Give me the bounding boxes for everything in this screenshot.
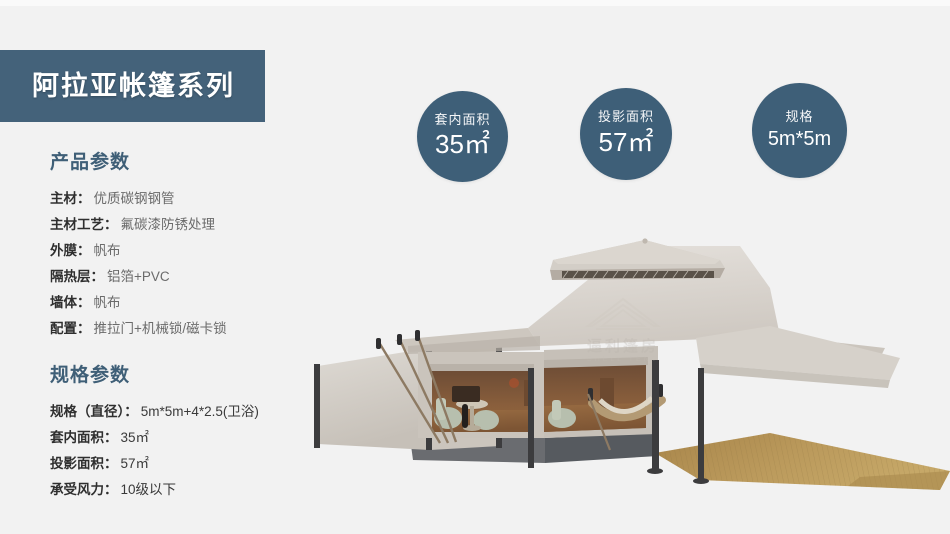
spec-value: 57㎡	[121, 456, 150, 471]
spec-row-material: 主材：优质碳钢钢管	[50, 186, 350, 212]
spec-label: 套内面积：	[50, 430, 118, 445]
badge-label: 规格	[785, 110, 813, 124]
spec-label: 投影面积：	[50, 456, 118, 471]
spec-label: 外膜：	[50, 243, 91, 258]
tent-illustration	[300, 228, 950, 508]
badge-value: 57㎡	[599, 128, 654, 158]
spec-value: 帆布	[94, 295, 121, 310]
spec-value: 优质碳钢钢管	[94, 191, 175, 206]
wing-post-left	[314, 364, 320, 448]
badge-indoor-area: 套内面积 35㎡	[417, 91, 508, 182]
badge-value: 5m*5m	[768, 128, 831, 151]
spec-label: 主材工艺：	[50, 217, 118, 232]
spec-value: 推拉门+机械锁/磁卡锁	[94, 321, 227, 336]
glass-wall-interior	[418, 346, 658, 438]
spec-value: 氟碳漆防锈处理	[121, 217, 216, 232]
badge-label: 套内面积	[434, 113, 490, 127]
badge-projected-area: 投影面积 57㎡	[580, 88, 672, 180]
top-strip	[0, 0, 950, 6]
upper-roof	[550, 238, 725, 280]
section-heading-product: 产品参数	[50, 152, 350, 175]
spec-value: 铝箔+PVC	[107, 269, 170, 284]
spec-label: 承受风力：	[50, 482, 118, 497]
spec-label: 规格（直径）：	[50, 404, 138, 419]
spec-value: 35㎡	[121, 430, 150, 445]
spec-value: 5m*5m+4*2.5(卫浴)	[141, 404, 259, 419]
spec-label: 隔热层：	[50, 269, 104, 284]
spec-value: 帆布	[94, 243, 121, 258]
page-title: 阿拉亚帐篷系列	[32, 73, 235, 100]
tent-product-image: 逼利篷房 SHELL TENT	[300, 228, 950, 508]
badge-value: 35㎡	[435, 130, 490, 160]
spec-label: 配置：	[50, 321, 91, 336]
badge-dimensions: 规格 5m*5m	[752, 83, 847, 178]
spec-label: 墙体：	[50, 295, 91, 310]
badge-label: 投影面积	[598, 110, 654, 124]
spec-value: 10级以下	[121, 482, 177, 497]
base-plinth-right	[545, 433, 658, 463]
series-title-banner: 阿拉亚帐篷系列	[0, 50, 265, 122]
right-canopy	[696, 326, 900, 388]
product-spec-page: 阿拉亚帐篷系列 产品参数 主材：优质碳钢钢管 主材工艺：氟碳漆防锈处理 外膜：帆…	[0, 0, 950, 534]
spec-label: 主材：	[50, 191, 91, 206]
